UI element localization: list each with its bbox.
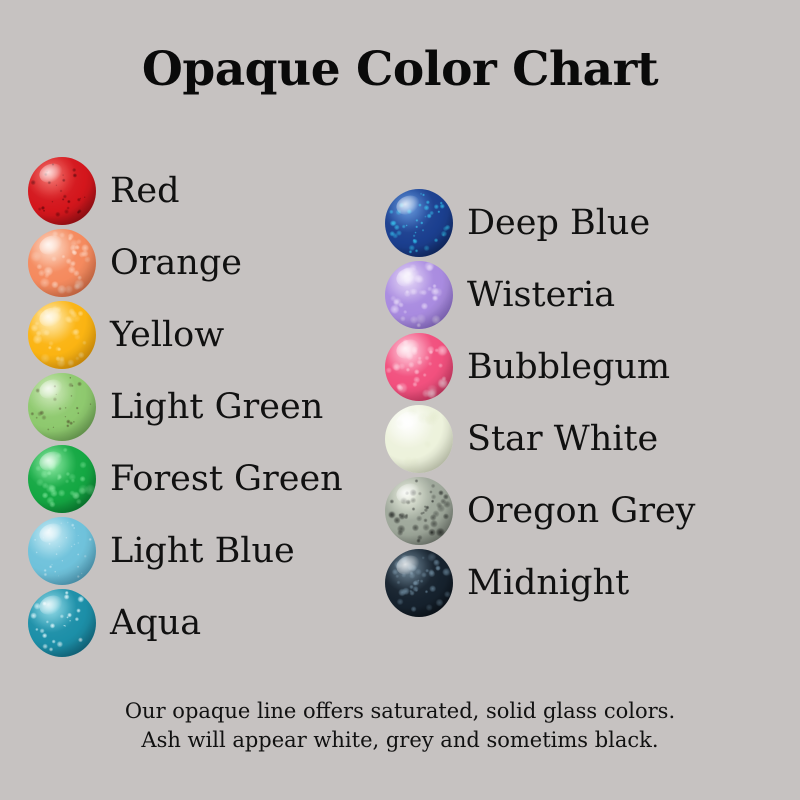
swatch-label: Deep Blue (467, 206, 650, 241)
footer-line-1: Our opaque line offers saturated, solid … (0, 697, 800, 726)
swatch-label: Wisteria (467, 278, 615, 313)
bead-orange-wrap (28, 229, 96, 297)
bead-light-blue-wrap (28, 517, 96, 585)
bead-forest-green-wrap (28, 445, 96, 513)
swatch-row[interactable]: Aqua (28, 589, 201, 657)
swatch-row[interactable]: Light Green (28, 373, 323, 441)
swatch-row[interactable]: Midnight (385, 549, 629, 617)
bead-yellow (28, 301, 96, 369)
page-title: Opaque Color Chart (0, 42, 800, 97)
bead-deep-blue (385, 189, 453, 257)
swatch-label: Midnight (467, 566, 629, 601)
swatch-label: Light Green (110, 390, 323, 425)
swatch-label: Light Blue (110, 534, 295, 569)
footer: Our opaque line offers saturated, solid … (0, 697, 800, 755)
bead-yellow-wrap (28, 301, 96, 369)
swatch-row[interactable]: Bubblegum (385, 333, 670, 401)
swatch-row[interactable]: Red (28, 157, 179, 225)
swatch-row[interactable]: Star White (385, 405, 658, 473)
bead-star-white (385, 405, 453, 473)
swatch-label: Oregon Grey (467, 494, 695, 529)
bead-red (28, 157, 96, 225)
bead-oregon-grey (385, 477, 453, 545)
bead-midnight (385, 549, 453, 617)
swatch-row[interactable]: Deep Blue (385, 189, 650, 257)
footer-line-2: Ash will appear white, grey and sometims… (0, 726, 800, 755)
swatch-label: Aqua (110, 606, 201, 641)
bead-bubblegum-wrap (385, 333, 453, 401)
swatch-row[interactable]: Wisteria (385, 261, 615, 329)
bead-light-green (28, 373, 96, 441)
swatch-label: Yellow (110, 318, 224, 353)
swatch-row[interactable]: Oregon Grey (385, 477, 695, 545)
swatch-label: Bubblegum (467, 350, 670, 385)
swatch-row[interactable]: Light Blue (28, 517, 295, 585)
swatch-row[interactable]: Orange (28, 229, 242, 297)
bead-light-green-wrap (28, 373, 96, 441)
bead-aqua (28, 589, 96, 657)
bead-light-blue (28, 517, 96, 585)
swatch-row[interactable]: Forest Green (28, 445, 343, 513)
bead-wisteria-wrap (385, 261, 453, 329)
swatch-label: Star White (467, 422, 658, 457)
bead-bubblegum (385, 333, 453, 401)
swatch-row[interactable]: Yellow (28, 301, 224, 369)
bead-red-wrap (28, 157, 96, 225)
bead-orange (28, 229, 96, 297)
swatch-label: Red (110, 174, 179, 209)
bead-oregon-grey-wrap (385, 477, 453, 545)
swatch-label: Forest Green (110, 462, 343, 497)
bead-forest-green (28, 445, 96, 513)
bead-midnight-wrap (385, 549, 453, 617)
bead-star-white-wrap (385, 405, 453, 473)
color-chart-root: Opaque Color Chart RedOrangeYellowLight … (0, 0, 800, 800)
bead-aqua-wrap (28, 589, 96, 657)
bead-wisteria (385, 261, 453, 329)
bead-deep-blue-wrap (385, 189, 453, 257)
swatch-label: Orange (110, 246, 242, 281)
